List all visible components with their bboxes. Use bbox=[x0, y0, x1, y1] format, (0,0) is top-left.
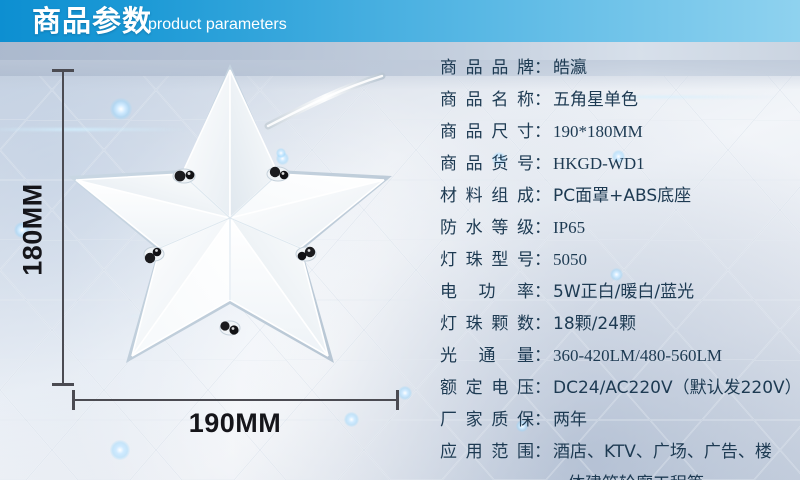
spec-colon: ： bbox=[534, 244, 551, 276]
spec-row: 防水等级：IP65 bbox=[440, 212, 792, 244]
spec-colon: ： bbox=[534, 404, 551, 436]
glow-dot bbox=[110, 440, 130, 460]
spec-value: 酒店、KTV、广场、广告、楼 bbox=[553, 436, 792, 468]
width-dimension-cap-left bbox=[72, 390, 75, 410]
spec-row: 应用范围：酒店、KTV、广场、广告、楼 bbox=[440, 436, 792, 468]
spec-colon: ： bbox=[534, 52, 551, 84]
spec-value: 两年 bbox=[553, 404, 792, 436]
spec-row: 灯珠颗数：18颗/24颗 bbox=[440, 308, 792, 340]
spec-label: 灯珠颗数 bbox=[440, 308, 534, 340]
spec-label: 商品品牌 bbox=[440, 52, 534, 84]
spec-row: 商品货号：HKGD-WD1 bbox=[440, 148, 792, 180]
spec-row: 额定电压：DC24/AC220V（默认发220V） bbox=[440, 372, 792, 404]
page-subtitle: product parameters bbox=[148, 14, 287, 36]
spec-label: 厂家质保 bbox=[440, 404, 534, 436]
spec-row: 材料组成：PC面罩+ABS底座 bbox=[440, 180, 792, 212]
spec-value: 5W正白/暖白/蓝光 bbox=[553, 276, 792, 308]
spec-label: 光通量 bbox=[440, 340, 534, 372]
spec-value: 皓瀛 bbox=[553, 52, 792, 84]
product-image bbox=[62, 58, 412, 388]
spec-label: 灯珠型号 bbox=[440, 244, 534, 276]
spec-label: 防水等级 bbox=[440, 212, 534, 244]
spec-row: 商品品牌：皓瀛 bbox=[440, 52, 792, 84]
spec-label: 商品货号 bbox=[440, 148, 534, 180]
spec-row: 电功率：5W正白/暖白/蓝光 bbox=[440, 276, 792, 308]
glow-dot bbox=[344, 412, 359, 427]
spec-value: IP65 bbox=[553, 212, 792, 244]
product-parameters-page: 商品参数 product parameters bbox=[0, 0, 800, 480]
spec-colon: ： bbox=[534, 180, 551, 212]
spec-value: 五角星单色 bbox=[553, 84, 792, 116]
spec-colon: ： bbox=[534, 340, 551, 372]
spec-row: 光通量：360-420LM/480-560LM bbox=[440, 340, 792, 372]
spec-colon: ： bbox=[534, 84, 551, 116]
spec-row: 灯珠型号：5050 bbox=[440, 244, 792, 276]
spec-value-continuation: 体建筑轮廓工程等 bbox=[440, 468, 792, 480]
spec-colon: ： bbox=[534, 276, 551, 308]
width-dimension-label: 190MM bbox=[135, 408, 335, 439]
spec-row: 厂家质保：两年 bbox=[440, 404, 792, 436]
glow-dot bbox=[398, 386, 412, 400]
height-dimension-label: 180MM bbox=[18, 175, 49, 285]
spec-colon: ： bbox=[534, 308, 551, 340]
spec-label: 商品尺寸 bbox=[440, 116, 534, 148]
spec-value: HKGD-WD1 bbox=[553, 148, 792, 180]
spec-label: 应用范围 bbox=[440, 436, 534, 468]
width-dimension-cap-right bbox=[396, 390, 399, 410]
page-title: 商品参数 bbox=[32, 3, 152, 39]
spec-colon: ： bbox=[534, 116, 551, 148]
spec-row: 商品尺寸：190*180MM bbox=[440, 116, 792, 148]
width-dimension-line bbox=[73, 399, 399, 401]
spec-label: 电功率 bbox=[440, 276, 534, 308]
spec-label: 额定电压 bbox=[440, 372, 534, 404]
spec-colon: ： bbox=[534, 372, 551, 404]
spec-list: 商品品牌：皓瀛商品名称：五角星单色商品尺寸：190*180MM商品货号：HKGD… bbox=[440, 52, 792, 480]
spec-colon: ： bbox=[534, 148, 551, 180]
spec-value: 190*180MM bbox=[553, 116, 792, 148]
spec-value: PC面罩+ABS底座 bbox=[553, 180, 792, 212]
spec-row: 商品名称：五角星单色 bbox=[440, 84, 792, 116]
spec-label: 材料组成 bbox=[440, 180, 534, 212]
spec-colon: ： bbox=[534, 436, 551, 468]
spec-value: 360-420LM/480-560LM bbox=[553, 340, 792, 372]
spec-value: 5050 bbox=[553, 244, 792, 276]
spec-colon: ： bbox=[534, 212, 551, 244]
spec-label: 商品名称 bbox=[440, 84, 534, 116]
spec-value: 18颗/24颗 bbox=[553, 308, 792, 340]
spec-value: DC24/AC220V（默认发220V） bbox=[553, 372, 800, 404]
